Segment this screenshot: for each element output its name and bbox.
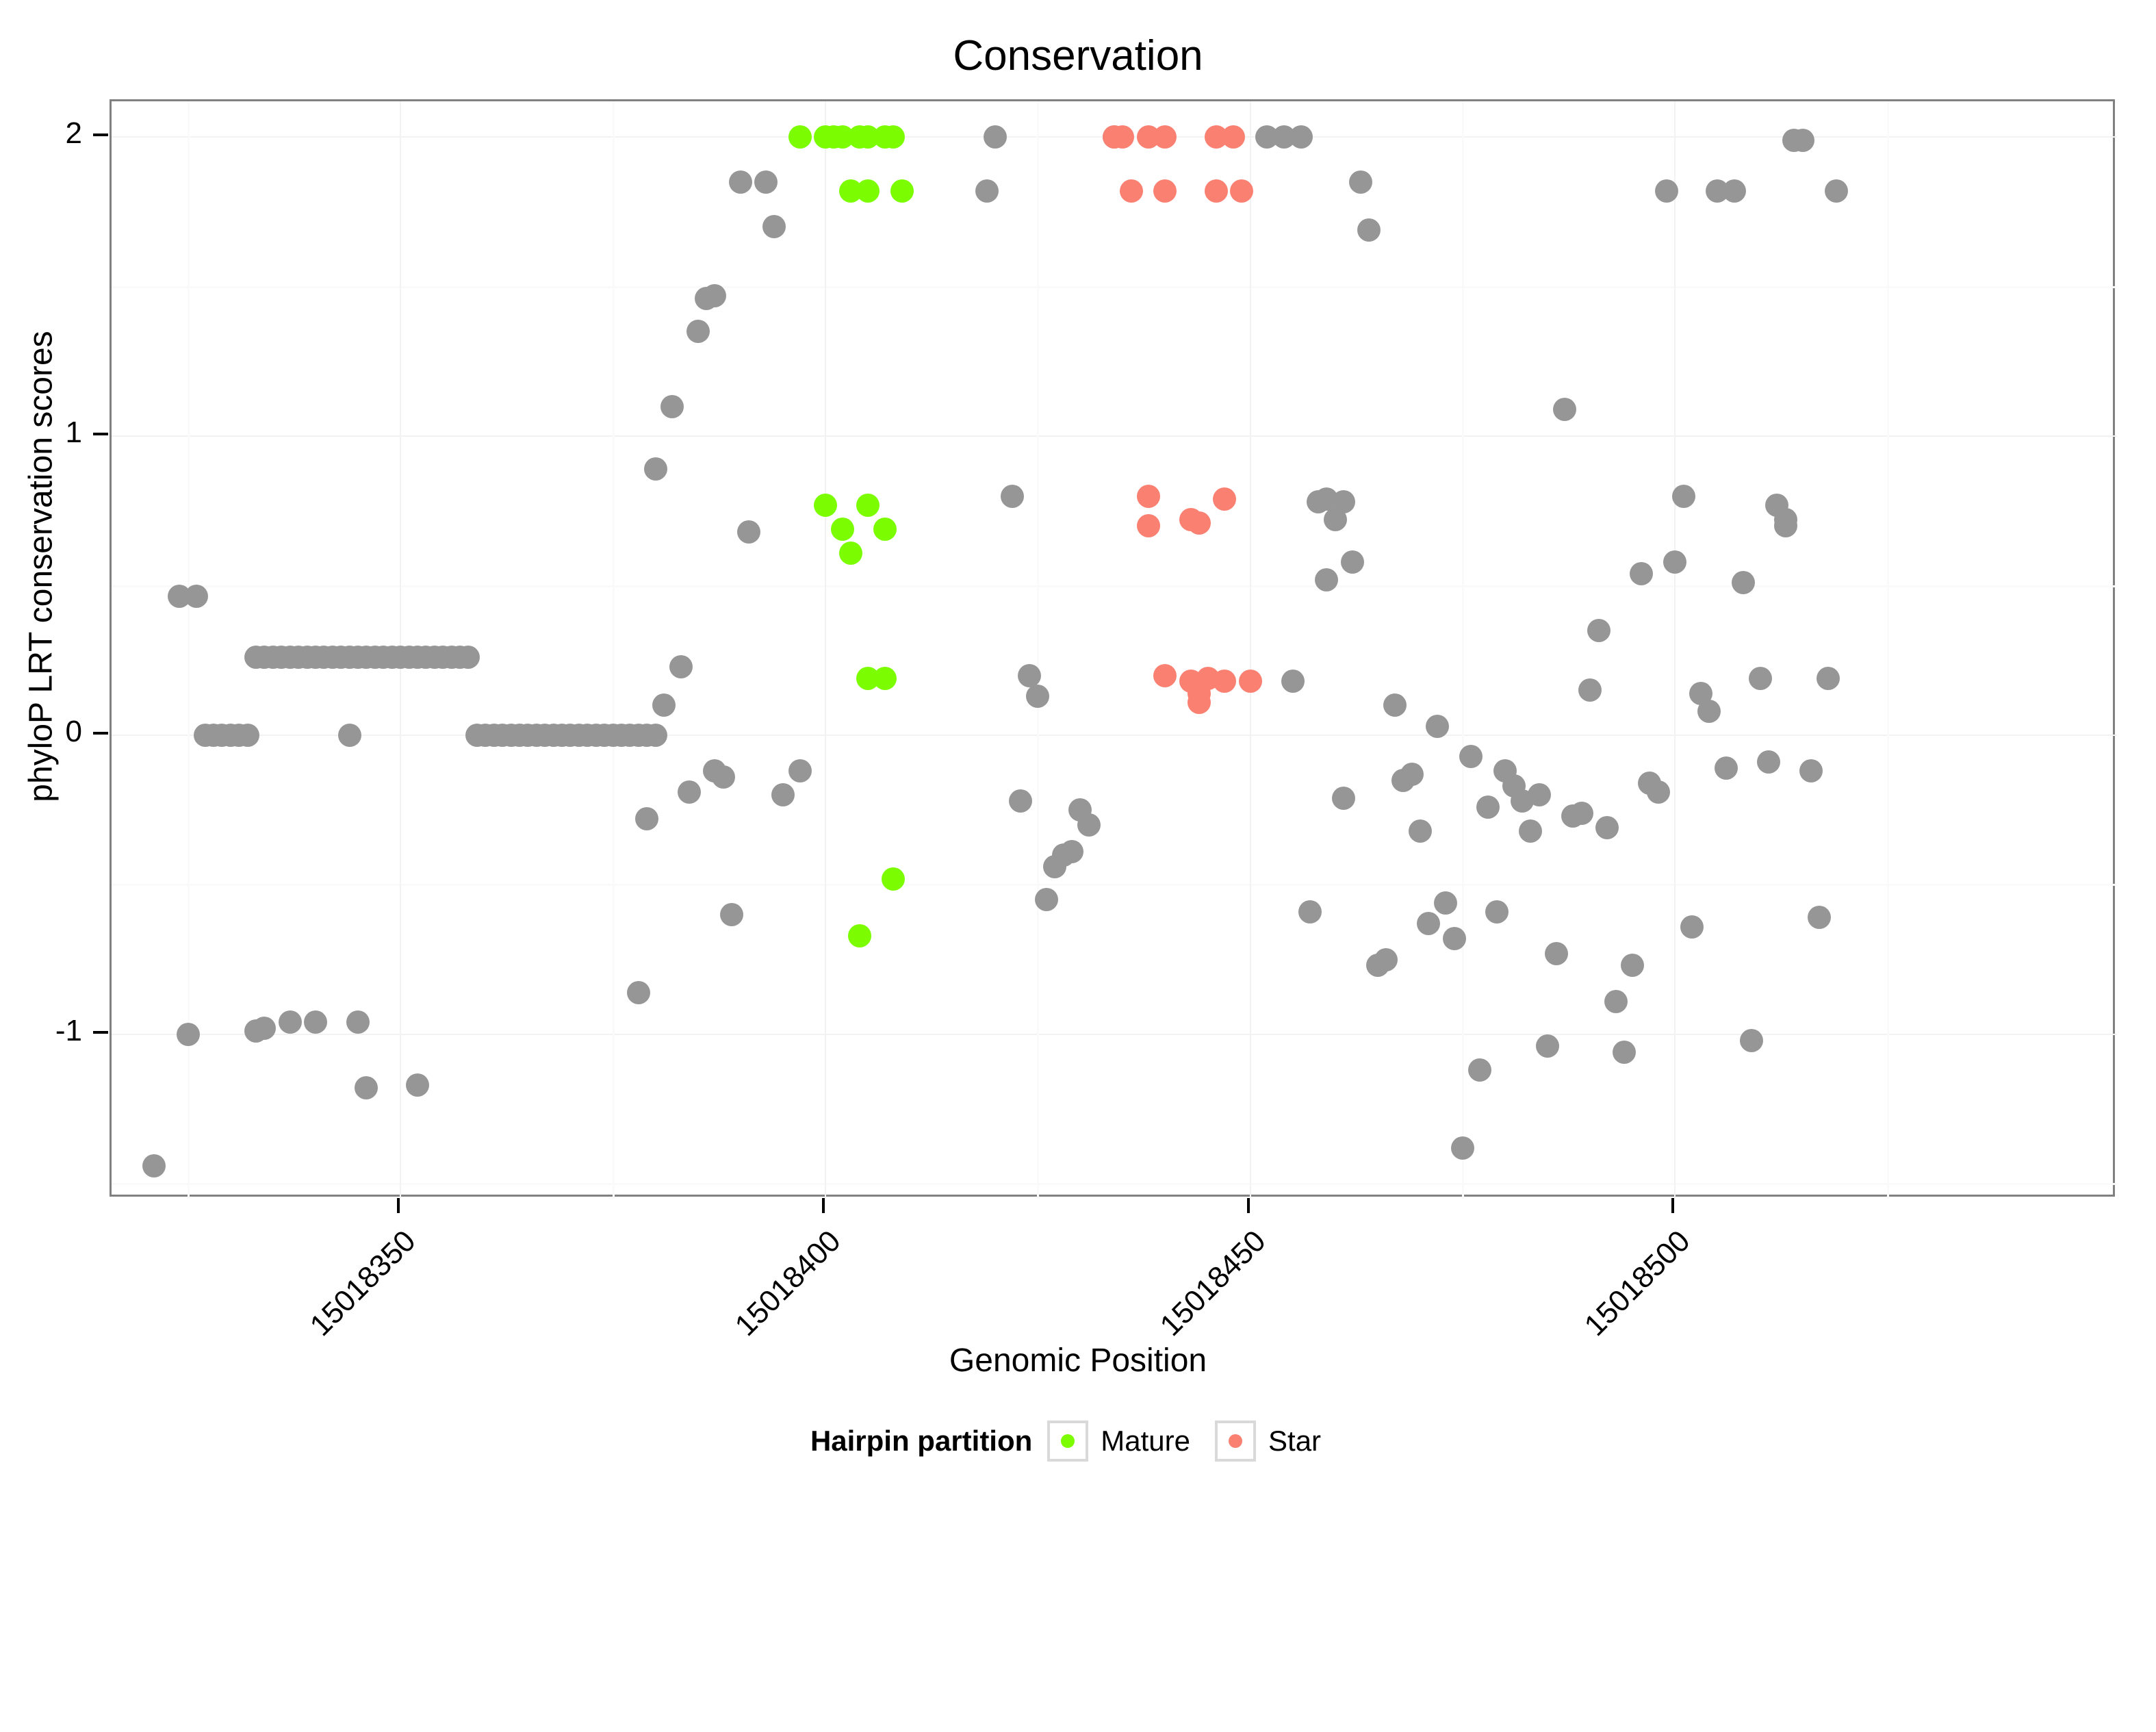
data-point-other <box>1757 750 1780 774</box>
data-point-other <box>142 1154 166 1177</box>
data-point-other <box>1587 619 1610 642</box>
page-title: Conservation <box>0 31 2156 80</box>
data-point-other <box>1604 990 1628 1013</box>
data-point-other <box>1417 912 1440 935</box>
data-point-other <box>1476 795 1500 819</box>
data-point-mature <box>814 494 837 517</box>
data-point-star <box>1137 485 1160 508</box>
data-point-other <box>1647 780 1670 804</box>
grid-line-horizontal-minor <box>112 1183 2117 1185</box>
data-point-other <box>457 646 480 669</box>
data-point-other <box>1468 1058 1491 1082</box>
data-point-other <box>1315 568 1338 591</box>
x-axis-tick-mark <box>822 1198 825 1213</box>
grid-line-horizontal <box>112 435 2117 437</box>
data-point-other <box>984 125 1007 149</box>
data-point-other <box>1774 514 1797 537</box>
data-point-other <box>678 780 701 804</box>
data-point-other <box>1570 802 1593 825</box>
data-point-other <box>720 903 743 926</box>
data-point-star <box>1239 670 1262 693</box>
data-point-mature <box>839 542 862 565</box>
data-point-other <box>355 1076 378 1099</box>
data-point-mature <box>856 494 880 517</box>
data-point-other <box>1553 398 1576 421</box>
data-point-other <box>1791 129 1814 152</box>
data-point-other <box>1621 954 1644 977</box>
data-point-other <box>627 981 650 1004</box>
data-point-other <box>712 765 735 789</box>
data-point-other <box>1434 891 1457 915</box>
data-point-other <box>1281 670 1305 693</box>
data-point-other <box>729 170 752 194</box>
y-axis-tick-mark <box>93 133 108 136</box>
data-point-other <box>1655 179 1678 203</box>
data-point-other <box>1799 759 1823 782</box>
data-point-other <box>669 655 693 678</box>
grid-line-vertical <box>1674 101 1676 1199</box>
data-point-other <box>686 320 710 343</box>
data-point-other <box>1613 1041 1636 1064</box>
data-point-star <box>1205 179 1228 203</box>
grid-line-horizontal-minor <box>112 585 2117 587</box>
data-point-other <box>1732 571 1755 594</box>
data-point-other <box>338 724 361 747</box>
data-point-other <box>754 170 778 194</box>
x-axis-tick-mark <box>397 1198 400 1213</box>
data-point-other <box>1749 667 1772 690</box>
grid-line-vertical <box>825 101 826 1199</box>
data-point-other <box>1018 664 1041 687</box>
legend-key-star[interactable] <box>1215 1421 1256 1462</box>
data-point-star <box>1222 125 1245 149</box>
grid-line-vertical-minor <box>1462 101 1464 1199</box>
data-point-mature <box>848 924 871 947</box>
data-point-other <box>1451 1136 1474 1160</box>
data-point-star <box>1120 179 1143 203</box>
x-axis-title: Genomic Position <box>0 1342 2156 1379</box>
data-point-other <box>1817 667 1840 690</box>
data-point-mature <box>873 518 897 541</box>
y-axis-tick-mark <box>93 433 108 435</box>
legend-title: Hairpin partition <box>810 1425 1032 1457</box>
x-axis-tick-label: 15018400 <box>339 1224 847 1732</box>
x-axis-tick-label: 15018350 <box>0 1224 422 1732</box>
data-point-star <box>1213 487 1236 511</box>
data-point-other <box>1409 819 1432 843</box>
data-point-other <box>253 1017 276 1040</box>
data-point-other <box>1035 888 1058 911</box>
y-axis-title: phyloP LRT conservation scores <box>23 122 60 1012</box>
data-point-other <box>177 1023 200 1046</box>
data-point-other <box>1630 562 1653 585</box>
grid-line-horizontal <box>112 735 2117 736</box>
grid-line-vertical <box>1250 101 1251 1199</box>
data-point-mature <box>788 125 812 149</box>
data-point-other <box>1740 1029 1763 1052</box>
data-point-other <box>1545 942 1568 965</box>
legend-label-mature: Mature <box>1101 1425 1190 1457</box>
data-point-other <box>1077 813 1101 837</box>
data-point-other <box>1060 840 1083 863</box>
grid-line-vertical-minor <box>1887 101 1889 1199</box>
x-axis-tick-mark <box>1247 1198 1250 1213</box>
data-point-other <box>1595 816 1619 839</box>
data-point-other <box>279 1010 302 1034</box>
legend-key-mature[interactable] <box>1047 1421 1088 1462</box>
data-point-star <box>1111 125 1134 149</box>
data-point-other <box>1426 715 1449 738</box>
data-point-other <box>304 1010 327 1034</box>
data-point-other <box>1697 700 1721 723</box>
data-point-other <box>346 1010 370 1034</box>
data-point-other <box>652 693 676 717</box>
data-point-other <box>1349 170 1372 194</box>
x-axis-tick-label: 15018450 <box>765 1224 1272 1732</box>
grid-line-vertical-minor <box>613 101 615 1199</box>
data-point-other <box>644 724 667 747</box>
data-point-other <box>1400 763 1424 786</box>
grid-line-vertical-minor <box>1037 101 1039 1199</box>
data-point-mature <box>890 179 914 203</box>
data-point-other <box>1341 550 1364 574</box>
data-point-other <box>771 783 795 806</box>
data-point-star <box>1188 511 1211 535</box>
legend-label-star: Star <box>1268 1425 1321 1457</box>
data-point-other <box>1298 900 1322 924</box>
data-point-other <box>1672 485 1695 508</box>
data-point-other <box>185 585 208 608</box>
data-point-star <box>1230 179 1253 203</box>
x-axis-tick-label: 15018500 <box>1189 1224 1697 1732</box>
data-point-other <box>635 807 658 830</box>
data-point-other <box>644 457 667 481</box>
data-point-mature <box>882 125 905 149</box>
y-axis-tick-mark <box>93 732 108 735</box>
x-axis-tick-mark <box>1671 1198 1674 1213</box>
data-point-other <box>236 724 259 747</box>
data-point-other <box>703 284 726 307</box>
data-point-mature <box>856 179 880 203</box>
data-point-other <box>406 1073 429 1097</box>
y-axis-tick-mark <box>93 1031 108 1034</box>
data-point-other <box>788 759 812 782</box>
legend-dot-mature <box>1061 1434 1075 1448</box>
data-point-other <box>1374 948 1398 971</box>
data-point-other <box>1026 685 1049 708</box>
data-point-other <box>1332 787 1355 810</box>
data-point-other <box>1715 756 1738 780</box>
data-point-other <box>1663 550 1686 574</box>
data-point-other <box>1357 218 1381 242</box>
grid-line-horizontal <box>112 1034 2117 1035</box>
legend-dot-star <box>1229 1434 1242 1448</box>
data-point-other <box>762 215 786 238</box>
data-point-other <box>1001 485 1024 508</box>
data-point-mature <box>882 867 905 891</box>
legend: Hairpin partition Mature Star <box>0 1421 2156 1462</box>
data-point-other <box>1443 927 1466 950</box>
data-point-other <box>1536 1034 1559 1058</box>
data-point-other <box>1519 819 1542 843</box>
data-point-other <box>1723 179 1746 203</box>
data-point-other <box>1459 745 1483 768</box>
data-point-star <box>1153 179 1177 203</box>
data-point-star <box>1213 670 1236 693</box>
data-point-star <box>1153 664 1177 687</box>
conservation-scatter-plot: Conservation -10121501835015018400150184… <box>0 0 2156 1540</box>
data-point-other <box>975 179 999 203</box>
data-point-other <box>1528 783 1551 806</box>
data-point-other <box>1332 490 1355 513</box>
data-point-star <box>1137 514 1160 537</box>
y-axis-tick-label: -1 <box>0 1016 82 1046</box>
data-point-other <box>1578 678 1602 702</box>
grid-line-horizontal-minor <box>112 286 2117 288</box>
data-point-other <box>660 395 684 418</box>
grid-line-horizontal-minor <box>112 884 2117 886</box>
plot-panel <box>110 99 2115 1197</box>
data-point-other <box>1485 900 1509 924</box>
data-point-other <box>1383 693 1407 717</box>
data-point-other <box>1289 125 1313 149</box>
data-point-star <box>1153 125 1177 149</box>
data-point-other <box>1808 906 1831 929</box>
data-point-other <box>737 520 760 544</box>
data-point-other <box>1680 915 1704 939</box>
data-point-other <box>1009 789 1032 813</box>
data-point-star <box>1188 691 1211 714</box>
data-point-mature <box>873 667 897 690</box>
data-point-other <box>1825 179 1848 203</box>
data-point-mature <box>831 518 854 541</box>
